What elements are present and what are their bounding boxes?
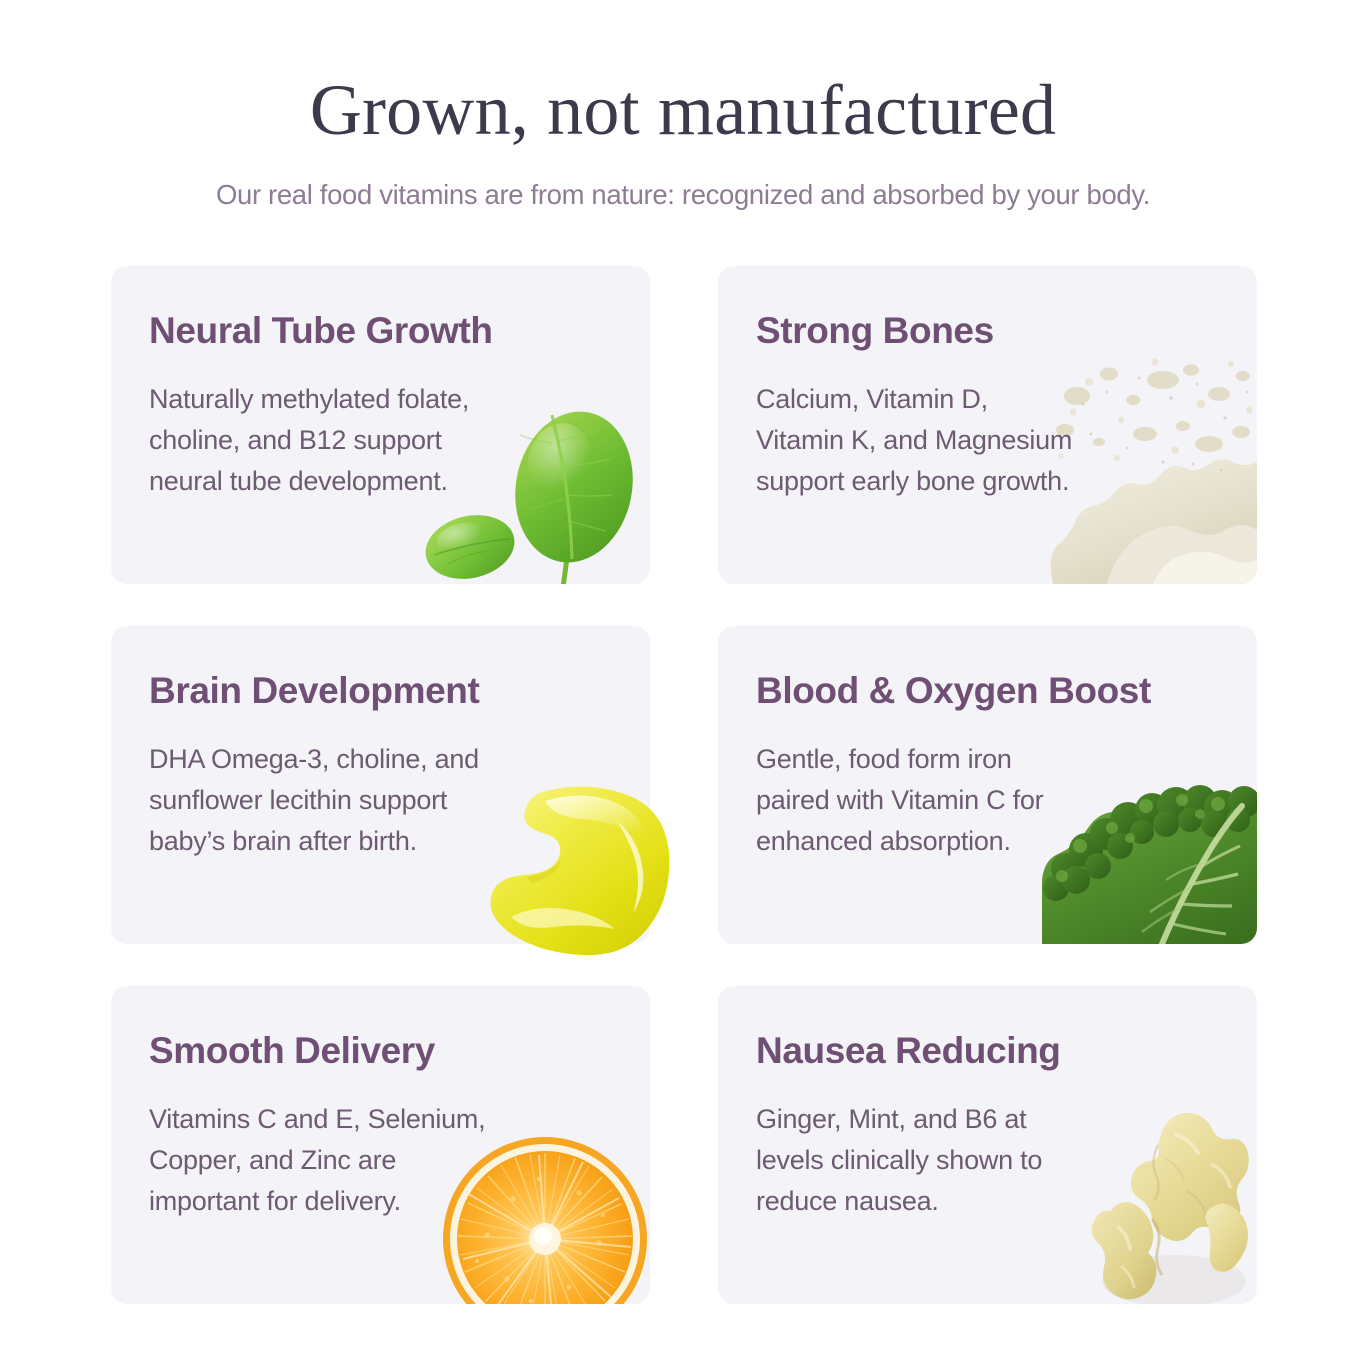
benefit-card-blood-oxygen-boost: Blood & Oxygen Boost Gentle, food form i… — [718, 626, 1257, 944]
benefit-card-neural-tube-growth: Neural Tube Growth Naturally methylated … — [111, 266, 650, 584]
page-title: Grown, not manufactured — [0, 0, 1366, 146]
card-body: Vitamins C and E, Selenium, Copper, and … — [149, 1071, 650, 1222]
benefit-card-smooth-delivery: Smooth Delivery Vitamins C and E, Seleni… — [111, 986, 650, 1304]
card-body: Naturally methylated folate, choline, an… — [149, 351, 650, 502]
card-title: Brain Development — [149, 672, 650, 711]
card-content: Brain Development DHA Omega-3, choline, … — [111, 626, 650, 862]
card-content: Smooth Delivery Vitamins C and E, Seleni… — [111, 986, 650, 1222]
card-content: Blood & Oxygen Boost Gentle, food form i… — [718, 626, 1257, 862]
card-title: Blood & Oxygen Boost — [756, 672, 1257, 711]
card-body: Gentle, food form iron paired with Vitam… — [756, 711, 1257, 862]
card-title: Neural Tube Growth — [149, 312, 650, 351]
page-header: Grown, not manufactured Our real food vi… — [0, 0, 1366, 211]
benefit-card-strong-bones: Strong Bones Calcium, Vitamin D, Vitamin… — [718, 266, 1257, 584]
card-content: Nausea Reducing Ginger, Mint, and B6 at … — [718, 986, 1257, 1222]
benefit-card-nausea-reducing: Nausea Reducing Ginger, Mint, and B6 at … — [718, 986, 1257, 1304]
card-content: Neural Tube Growth Naturally methylated … — [111, 266, 650, 502]
card-title: Nausea Reducing — [756, 1032, 1257, 1071]
card-body: Ginger, Mint, and B6 at levels clinicall… — [756, 1071, 1257, 1222]
page-subtitle: Our real food vitamins are from nature: … — [0, 146, 1366, 211]
card-body: DHA Omega-3, choline, and sunflower leci… — [149, 711, 650, 862]
page-root: Grown, not manufactured Our real food vi… — [0, 0, 1366, 1366]
card-body: Calcium, Vitamin D, Vitamin K, and Magne… — [756, 351, 1257, 502]
card-title: Strong Bones — [756, 312, 1257, 351]
card-content: Strong Bones Calcium, Vitamin D, Vitamin… — [718, 266, 1257, 502]
benefit-card-grid: Neural Tube Growth Naturally methylated … — [111, 266, 1257, 1304]
benefit-card-brain-development: Brain Development DHA Omega-3, choline, … — [111, 626, 650, 944]
card-title: Smooth Delivery — [149, 1032, 650, 1071]
